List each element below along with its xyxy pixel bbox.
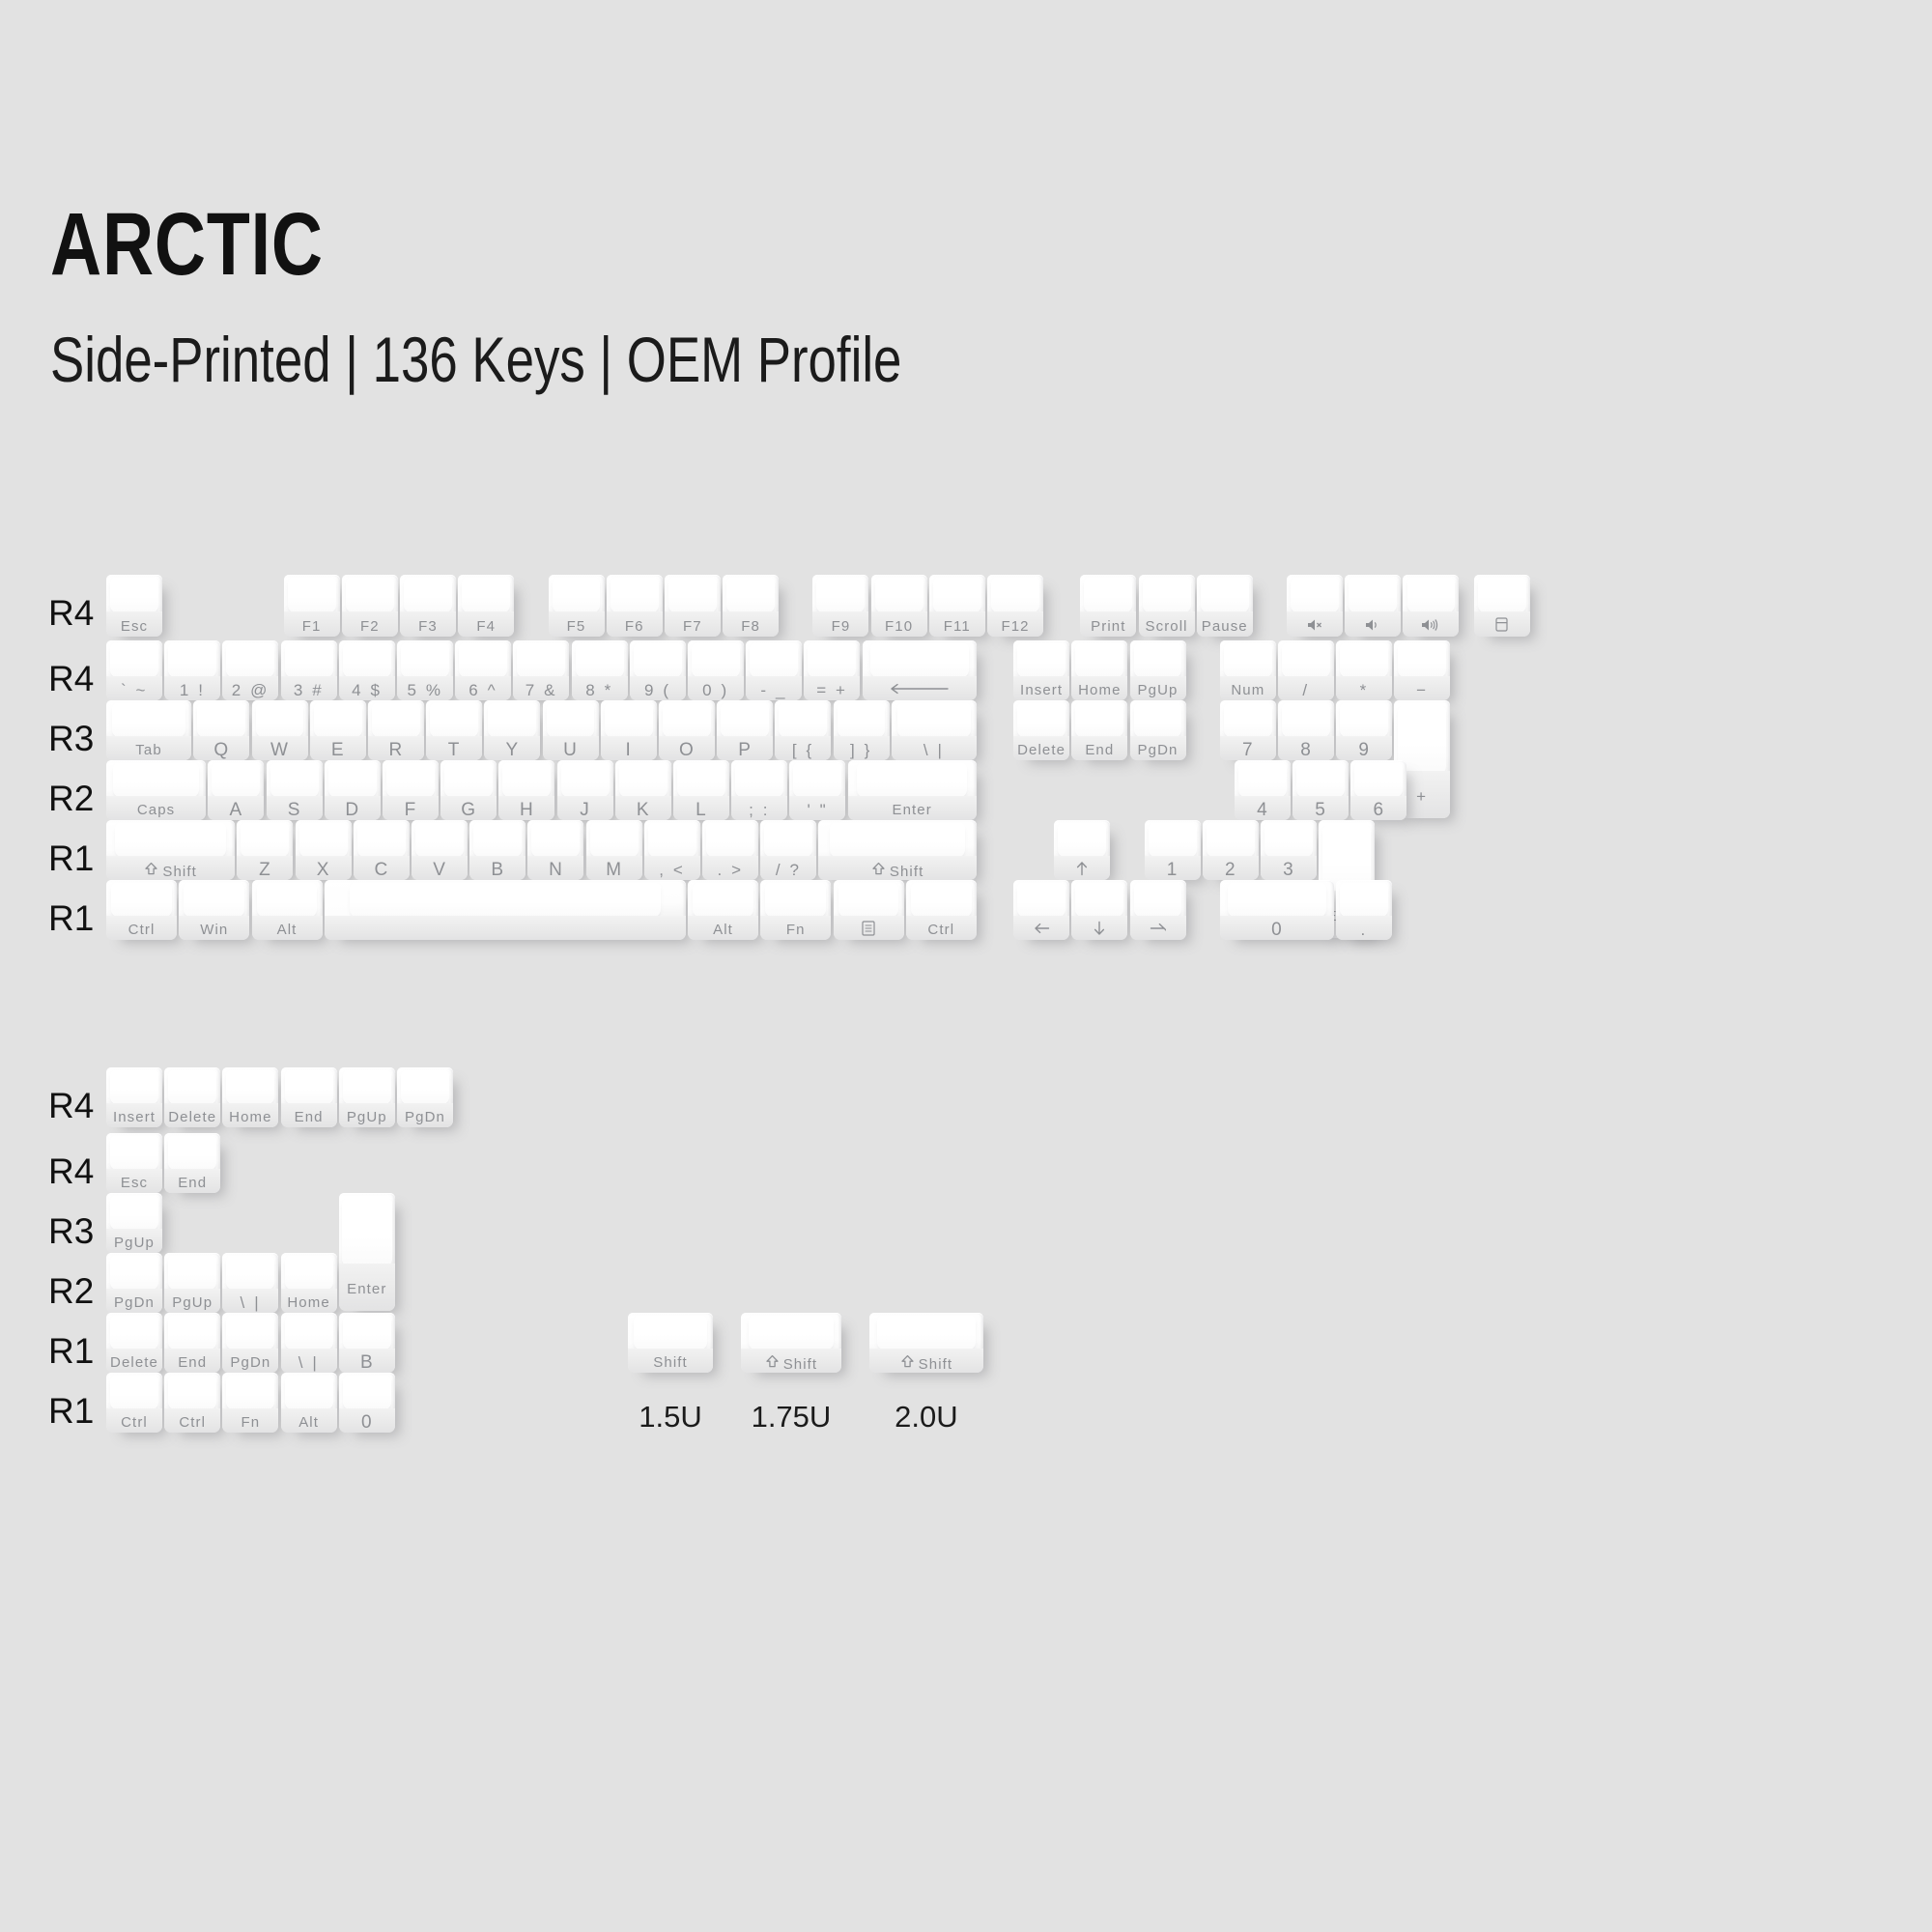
- keycap-front-face: L: [673, 796, 729, 820]
- keycap-f7[interactable]: F7: [665, 575, 721, 637]
- keycap-legend: Delete: [1017, 743, 1065, 757]
- keycap-legend: H: [520, 801, 534, 819]
- keycap-j[interactable]: J: [557, 760, 613, 820]
- keycap-4[interactable]: 4: [1235, 760, 1291, 820]
- keycap-legend: Shift: [871, 862, 924, 879]
- keycap-2[interactable]: 2: [1203, 820, 1259, 880]
- keycap-front-face: N: [527, 856, 583, 880]
- keycap-legend: O: [679, 741, 695, 759]
- keycap-alt[interactable]: Alt: [252, 880, 323, 940]
- keycap-legend: PgDn: [405, 1110, 445, 1124]
- keycap-9[interactable]: 9 (: [630, 640, 686, 700]
- keycap-legend: End: [178, 1355, 207, 1370]
- keycap-b[interactable]: B: [469, 820, 526, 880]
- keycap-f3[interactable]: F3: [400, 575, 456, 637]
- keycap-front-face: A: [208, 796, 264, 820]
- keycap-shift[interactable]: Shift: [106, 820, 235, 880]
- keycap-alt[interactable]: Alt: [281, 1373, 337, 1433]
- keycap-legend: W: [270, 741, 289, 759]
- keycap-front-face: = +: [804, 676, 860, 700]
- keycap-[interactable]: [ {: [775, 700, 831, 760]
- keycap-front-face: Ctrl: [164, 1408, 220, 1433]
- keycap-legend: \ |: [298, 1354, 320, 1371]
- keycap-f6[interactable]: F6: [607, 575, 663, 637]
- keycap-front-face: 7: [1220, 736, 1276, 760]
- keycap-legend: Shift: [144, 862, 197, 879]
- keycap-front-face: 6 ^: [455, 676, 511, 700]
- keycap-front-face: D: [325, 796, 381, 820]
- keycap-legend-text: Shift: [783, 1356, 818, 1373]
- keycap-end[interactable]: End: [164, 1313, 220, 1373]
- keycap-pause[interactable]: Pause: [1197, 575, 1253, 637]
- keycap-[interactable]: \ |: [281, 1313, 337, 1373]
- keycap-front-face: 3 #: [281, 676, 337, 700]
- keycap-enter[interactable]: Enter: [848, 760, 977, 820]
- keycap-front-face: −: [1394, 676, 1450, 700]
- keycap-front-face: Esc: [106, 1169, 162, 1193]
- keycap-front-face: O: [659, 736, 715, 760]
- keycap-[interactable]: , <: [644, 820, 700, 880]
- keycap-home[interactable]: Home: [1071, 640, 1127, 700]
- keycap-legend: G: [461, 801, 476, 819]
- keycap-legend: 9 (: [644, 682, 671, 698]
- keycap-legend: [1495, 617, 1508, 635]
- keycap-front-face: PgUp: [164, 1289, 220, 1313]
- keycap-front-face: Fn: [222, 1408, 278, 1433]
- keycap-esc[interactable]: Esc: [106, 575, 162, 637]
- keycap-6[interactable]: 6 ^: [455, 640, 511, 700]
- keycap-f1[interactable]: F1: [284, 575, 340, 637]
- keycap-volume-up-icon[interactable]: [1403, 575, 1459, 637]
- keycap-k[interactable]: K: [615, 760, 671, 820]
- keycap-pgup[interactable]: PgUp: [164, 1253, 220, 1313]
- keycap-front-face: [1287, 611, 1343, 637]
- keycap-legend: F11: [944, 619, 971, 634]
- keycap-front-face: H: [498, 796, 554, 820]
- keycap-front-face: Scroll: [1139, 611, 1195, 637]
- keycap-p[interactable]: P: [717, 700, 773, 760]
- keycap-u[interactable]: U: [543, 700, 599, 760]
- keycap-l[interactable]: L: [673, 760, 729, 820]
- keycap-legend: F5: [567, 619, 586, 634]
- keycap-1[interactable]: 1: [1145, 820, 1201, 880]
- keycap-spacebar-mark[interactable]: [325, 880, 686, 940]
- keycap-legend: F4: [476, 619, 496, 634]
- keycap-front-face: ' ": [789, 796, 845, 820]
- keycap-legend: PgUp: [172, 1295, 213, 1310]
- keycap-home[interactable]: Home: [222, 1067, 278, 1127]
- keycap-f8[interactable]: F8: [723, 575, 779, 637]
- keycap-front-face: Num: [1220, 676, 1276, 700]
- keycap-front-face: B: [469, 856, 526, 880]
- header: ARCTIC Side-Printed | 136 Keys | OEM Pro…: [50, 203, 1115, 391]
- keycap-tab[interactable]: Tab: [106, 700, 191, 760]
- keycap-ctrl[interactable]: Ctrl: [106, 880, 177, 940]
- keycap-v[interactable]: V: [412, 820, 468, 880]
- keycap-front-face: Delete: [1013, 736, 1069, 760]
- keycap-pgup[interactable]: PgUp: [1130, 640, 1186, 700]
- keycap-legend: 5 %: [407, 682, 442, 698]
- keycap-front-face: Shift: [628, 1349, 713, 1373]
- keycap-legend: End: [295, 1110, 324, 1124]
- keycap-7[interactable]: 7 &: [513, 640, 569, 700]
- keycap-front-face: - _: [746, 676, 802, 700]
- keycap-front-face: Tab: [106, 736, 191, 760]
- keycap-legend: 9: [1358, 741, 1370, 759]
- keycap-legend: +: [1416, 788, 1429, 805]
- keycap-e[interactable]: E: [310, 700, 366, 760]
- keycap-legend: Scroll: [1145, 619, 1187, 634]
- keycap-legend: 3 #: [294, 682, 324, 698]
- keycap-front-face: J: [557, 796, 613, 820]
- keycap-legend: F8: [741, 619, 760, 634]
- keycap-front-face: 0: [339, 1408, 395, 1433]
- keycap-front-face: PgUp: [1130, 676, 1186, 700]
- keycap-legend: End: [178, 1176, 207, 1190]
- keycap-legend: [ {: [792, 742, 814, 758]
- keycap-s[interactable]: S: [267, 760, 323, 820]
- keycap-legend: PgUp: [114, 1236, 155, 1250]
- keycap-home[interactable]: Home: [281, 1253, 337, 1313]
- keycap-legend: [1075, 861, 1089, 879]
- keycap-o[interactable]: O: [659, 700, 715, 760]
- keycap-legend: A: [230, 801, 243, 819]
- keycap-1[interactable]: 1 !: [164, 640, 220, 700]
- keycap-arrow-left[interactable]: [1013, 880, 1069, 940]
- row-profile-label: R1: [48, 1331, 94, 1372]
- keycap-legend: V: [433, 861, 446, 879]
- row-profile-label: R4: [48, 659, 94, 699]
- keycap-backspace-arrow[interactable]: [863, 640, 977, 700]
- keycap-f12[interactable]: F12: [987, 575, 1043, 637]
- keycap-front-face: Print: [1080, 611, 1136, 637]
- keycap-legend: PgUp: [347, 1110, 387, 1124]
- keycap-8[interactable]: 8: [1278, 700, 1334, 760]
- keycap-size-note: 1.75U: [741, 1400, 840, 1435]
- keycap-front-face: Alt: [252, 916, 323, 940]
- keycap-legend: ' ": [807, 802, 828, 818]
- keycap-n[interactable]: N: [527, 820, 583, 880]
- keycap-legend: Q: [213, 741, 229, 759]
- keycap-m[interactable]: M: [586, 820, 642, 880]
- keycap-front-face: F12: [987, 611, 1043, 637]
- keycap-pgdn[interactable]: PgDn: [1130, 700, 1186, 760]
- keycap-front-face: [ {: [775, 736, 831, 760]
- keycap-d[interactable]: D: [325, 760, 381, 820]
- keycap-front-face: Shift: [741, 1349, 840, 1373]
- keycap-legend: P: [738, 741, 752, 759]
- keycap-f9[interactable]: F9: [812, 575, 868, 637]
- keycap-front-face: Insert: [1013, 676, 1069, 700]
- keycap-front-face: E: [310, 736, 366, 760]
- keycap-[interactable]: .: [1336, 880, 1392, 940]
- keycap-front-face: X: [296, 856, 352, 880]
- keycap-legend: 2 @: [232, 682, 270, 698]
- keycap-z[interactable]: Z: [237, 820, 293, 880]
- keycap-print[interactable]: Print: [1080, 575, 1136, 637]
- row-profile-label: R3: [48, 1211, 94, 1252]
- keycap-front-face: T: [426, 736, 482, 760]
- keycap-legend: Tab: [135, 743, 162, 757]
- keycap-a[interactable]: A: [208, 760, 264, 820]
- keycap-front-face: ` ~: [106, 676, 162, 700]
- keycap-legend: 7 &: [526, 682, 557, 698]
- keycap-pgdn[interactable]: PgDn: [397, 1067, 453, 1127]
- keycap-c[interactable]: C: [354, 820, 410, 880]
- keycap-front-face: 5: [1293, 796, 1349, 820]
- keycap-legend: 8: [1300, 741, 1312, 759]
- row-profile-label: R2: [48, 1271, 94, 1312]
- keycap-win[interactable]: Win: [179, 880, 249, 940]
- keycap-legend: \ |: [241, 1294, 262, 1311]
- keycap-arrow-right[interactable]: [1130, 880, 1186, 940]
- keycap-front-face: Fn: [760, 916, 831, 940]
- keycap-front-face: [325, 916, 686, 940]
- keycap-f10[interactable]: F10: [871, 575, 927, 637]
- page-subtitle: Side-Printed | 136 Keys | OEM Profile: [50, 327, 901, 391]
- row-profile-label: R2: [48, 779, 94, 819]
- keycap-[interactable]: −: [1394, 640, 1450, 700]
- keycap-insert[interactable]: Insert: [1013, 640, 1069, 700]
- keycap-volume-down-icon[interactable]: [1345, 575, 1401, 637]
- keycap-legend: Shift: [765, 1354, 818, 1372]
- keycap-front-face: 8 *: [572, 676, 628, 700]
- keycap-front-face: Pause: [1197, 611, 1253, 637]
- keycap-front-face: Delete: [164, 1103, 220, 1127]
- keycap-shift-1.75u[interactable]: Shift: [741, 1313, 840, 1373]
- row-profile-label: R4: [48, 593, 94, 634]
- keycap-legend: End: [1085, 743, 1114, 757]
- keycap-5[interactable]: 5 %: [397, 640, 453, 700]
- keycap-front-face: 4 $: [339, 676, 395, 700]
- keycap-mute-icon[interactable]: [1287, 575, 1343, 637]
- keycap-9[interactable]: 9: [1336, 700, 1392, 760]
- keycap-legend: [1365, 618, 1380, 635]
- keycap-t[interactable]: T: [426, 700, 482, 760]
- keycap-scroll[interactable]: Scroll: [1139, 575, 1195, 637]
- keycap-num[interactable]: Num: [1220, 640, 1276, 700]
- keycap-0[interactable]: 0: [1220, 880, 1334, 940]
- keycap-front-face: Shift: [869, 1349, 983, 1373]
- keycap-[interactable]: / ?: [760, 820, 816, 880]
- keycap-legend: 0: [361, 1413, 373, 1432]
- keycap-4[interactable]: 4 $: [339, 640, 395, 700]
- keycap-legend: F7: [683, 619, 702, 634]
- keycap-fn[interactable]: Fn: [222, 1373, 278, 1433]
- keycap-shift[interactable]: Shift: [818, 820, 976, 880]
- keycap-caps[interactable]: Caps: [106, 760, 206, 820]
- keycap-end[interactable]: End: [1071, 700, 1127, 760]
- keycap-legend: F12: [1001, 619, 1029, 634]
- keycap-legend: [862, 921, 875, 939]
- keycap-front-face: PgDn: [1130, 736, 1186, 760]
- keycap-front-face: 5 %: [397, 676, 453, 700]
- keycap-delete[interactable]: Delete: [164, 1067, 220, 1127]
- keycap-front-face: 0: [1220, 916, 1334, 940]
- keycap-legend: 4: [1257, 801, 1268, 819]
- keycap-front-face: P: [717, 736, 773, 760]
- keycap-0[interactable]: 0: [339, 1373, 395, 1433]
- keycap-fn[interactable]: Fn: [760, 880, 831, 940]
- keycap-delete[interactable]: Delete: [106, 1313, 162, 1373]
- keycap-legend: Home: [229, 1110, 271, 1124]
- keycap-ctrl[interactable]: Ctrl: [106, 1373, 162, 1433]
- keycap-front-face: F11: [929, 611, 985, 637]
- keycap-legend: .: [1361, 922, 1368, 938]
- keycap-2[interactable]: 2 @: [222, 640, 278, 700]
- keycap-front-face: [863, 676, 977, 700]
- keycap-front-face: F9: [812, 611, 868, 637]
- keycap-arrow-up[interactable]: [1054, 820, 1110, 880]
- keycap-legend: 6: [1373, 801, 1384, 819]
- keycap-legend: F10: [885, 619, 913, 634]
- keycap-5[interactable]: 5: [1293, 760, 1349, 820]
- keycap-legend: T: [448, 741, 461, 759]
- keycap-legend: Caps: [137, 803, 175, 817]
- keycap-legend: [1150, 922, 1166, 938]
- keycap-front-face: \ |: [222, 1289, 278, 1313]
- keycap-f[interactable]: F: [383, 760, 439, 820]
- keycap-legend: - _: [760, 682, 787, 698]
- keycap-g[interactable]: G: [440, 760, 497, 820]
- keycap-front-face: Home: [1071, 676, 1127, 700]
- row-profile-label: R4: [48, 1151, 94, 1192]
- keycap-legend: Print: [1091, 619, 1125, 634]
- keycap-legend: U: [563, 741, 578, 759]
- keycap-x[interactable]: X: [296, 820, 352, 880]
- keycap-front-face: 2: [1203, 856, 1259, 880]
- keycap-[interactable]: \ |: [222, 1253, 278, 1313]
- keycap-calculator-icon[interactable]: [1474, 575, 1530, 637]
- keycap-legend: PgDn: [230, 1355, 270, 1370]
- keycap-[interactable]: *: [1336, 640, 1392, 700]
- keycap-[interactable]: ' ": [789, 760, 845, 820]
- keycap-f11[interactable]: F11: [929, 575, 985, 637]
- keycap-legend: [1034, 922, 1050, 938]
- keycap-legend: −: [1416, 682, 1429, 698]
- keycap-r[interactable]: R: [368, 700, 424, 760]
- keycap-6[interactable]: 6: [1350, 760, 1406, 820]
- keycap-legend: X: [317, 861, 330, 879]
- keycap-front-face: 2 @: [222, 676, 278, 700]
- keycap-menu-icon[interactable]: [834, 880, 904, 940]
- keycap-legend: E: [331, 741, 345, 759]
- keycap-size-note: 2.0U: [869, 1400, 983, 1435]
- keycap-arrow-down[interactable]: [1071, 880, 1127, 940]
- keycap-ctrl[interactable]: Ctrl: [164, 1373, 220, 1433]
- keycap-legend: F: [405, 801, 417, 819]
- keycap-7[interactable]: 7: [1220, 700, 1276, 760]
- keycap-[interactable]: \ |: [892, 700, 977, 760]
- keycap-3[interactable]: 3: [1261, 820, 1317, 880]
- keycap-pgup[interactable]: PgUp: [339, 1067, 395, 1127]
- keycap-front-face: End: [164, 1169, 220, 1193]
- keycap-front-face: F5: [549, 611, 605, 637]
- keycap-front-face: Esc: [106, 611, 162, 637]
- keycap-f5[interactable]: F5: [549, 575, 605, 637]
- keycap-pgdn[interactable]: PgDn: [222, 1313, 278, 1373]
- keycap-y[interactable]: Y: [484, 700, 540, 760]
- keycap-legend: C: [374, 861, 388, 879]
- keycap-front-face: [1071, 916, 1127, 940]
- keycap-3[interactable]: 3 #: [281, 640, 337, 700]
- keycap-legend: M: [606, 861, 622, 879]
- keycap-i[interactable]: I: [601, 700, 657, 760]
- keycap-[interactable]: = +: [804, 640, 860, 700]
- keycap-[interactable]: ` ~: [106, 640, 162, 700]
- keycap-front-face: I: [601, 736, 657, 760]
- keycap-front-face: 7 &: [513, 676, 569, 700]
- keycap-[interactable]: ] }: [834, 700, 890, 760]
- keycap-front-face: PgUp: [339, 1103, 395, 1127]
- keycap-end[interactable]: End: [164, 1133, 220, 1193]
- keycap-legend: Home: [1078, 683, 1121, 697]
- keycap-legend: 1 !: [180, 682, 206, 698]
- keycap-legend: PgDn: [114, 1295, 155, 1310]
- keycap-f4[interactable]: F4: [458, 575, 514, 637]
- row-profile-label: R4: [48, 1086, 94, 1126]
- keycap-[interactable]: ; :: [731, 760, 787, 820]
- keycap-legend: ] }: [850, 742, 872, 758]
- keycap-ctrl[interactable]: Ctrl: [906, 880, 977, 940]
- keycap-insert[interactable]: Insert: [106, 1067, 162, 1127]
- keycap-front-face: F1: [284, 611, 340, 637]
- keycap-pgup[interactable]: PgUp: [106, 1193, 162, 1253]
- keycap-enter[interactable]: Enter: [339, 1193, 395, 1311]
- keycap-front-face: \ |: [281, 1349, 337, 1373]
- keycap-delete[interactable]: Delete: [1013, 700, 1069, 760]
- keycap-[interactable]: . >: [702, 820, 758, 880]
- keycap-[interactable]: /: [1278, 640, 1334, 700]
- keycap-front-face: Ctrl: [906, 916, 977, 940]
- keycap-esc[interactable]: Esc: [106, 1133, 162, 1193]
- keycap-legend: Y: [505, 741, 519, 759]
- keycap-end[interactable]: End: [281, 1067, 337, 1127]
- keycap-q[interactable]: Q: [193, 700, 249, 760]
- keycap-legend: L: [696, 801, 707, 819]
- keycap-f2[interactable]: F2: [342, 575, 398, 637]
- keycap-b[interactable]: B: [339, 1313, 395, 1373]
- keycap-alt[interactable]: Alt: [688, 880, 758, 940]
- keycap-front-face: Delete: [106, 1349, 162, 1373]
- keycap-legend: Shift: [900, 1354, 953, 1372]
- keycap-[interactable]: - _: [746, 640, 802, 700]
- keycap-front-face: ; :: [731, 796, 787, 820]
- keycap-front-face: W: [252, 736, 308, 760]
- keycap-front-face: Home: [222, 1103, 278, 1127]
- keycap-shift-1.5u[interactable]: Shift: [628, 1313, 713, 1373]
- keycap-8[interactable]: 8 *: [572, 640, 628, 700]
- keycap-h[interactable]: H: [498, 760, 554, 820]
- keycap-front-face: [1403, 611, 1459, 637]
- keycap-legend: Delete: [168, 1110, 216, 1124]
- keycap-front-face: [1013, 916, 1069, 940]
- keycap-0[interactable]: 0 ): [688, 640, 744, 700]
- keycap-legend: Alt: [298, 1415, 319, 1430]
- keycap-legend: [890, 683, 950, 697]
- keycap-pgdn[interactable]: PgDn: [106, 1253, 162, 1313]
- keycap-legend: 4 $: [352, 682, 382, 698]
- keycap-front-face: Shift: [106, 856, 235, 880]
- keycap-legend: F9: [832, 619, 851, 634]
- keycap-w[interactable]: W: [252, 700, 308, 760]
- keycap-shift-2.0u[interactable]: Shift: [869, 1313, 983, 1373]
- keycap-front-face: End: [164, 1349, 220, 1373]
- keycap-legend: Ctrl: [927, 923, 954, 937]
- keycap-legend: F6: [625, 619, 644, 634]
- keycap-front-face: G: [440, 796, 497, 820]
- keycap-front-face: Ctrl: [106, 916, 177, 940]
